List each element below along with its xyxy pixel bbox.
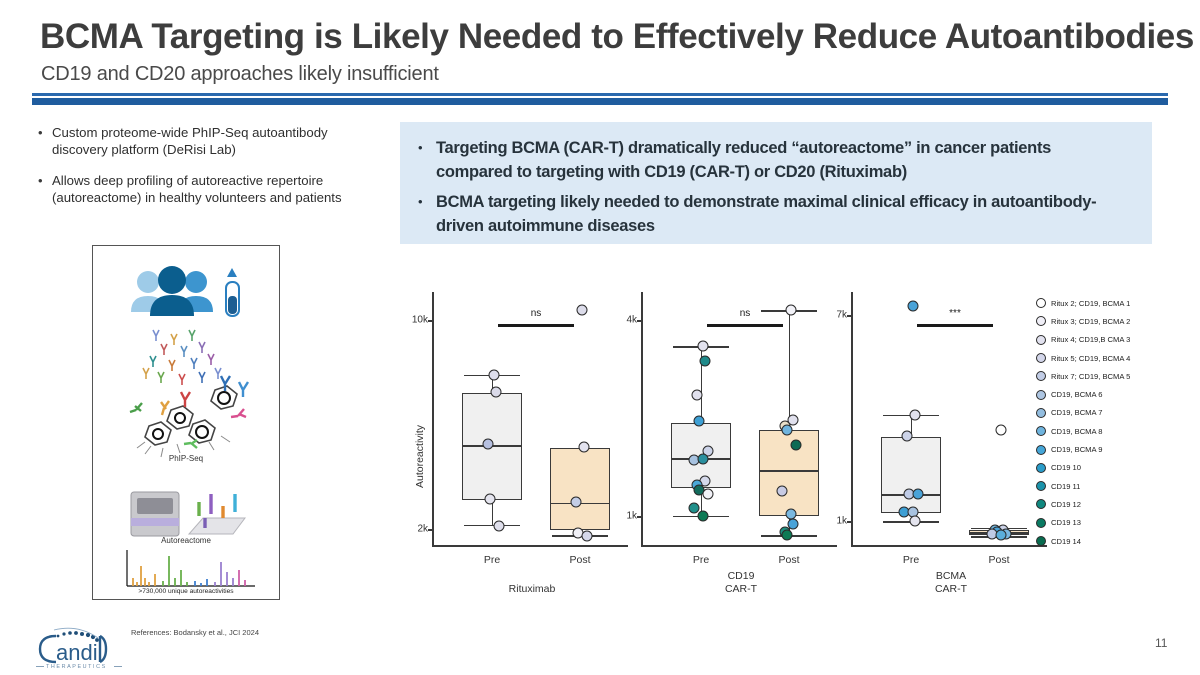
legend-item: Ritux 5; CD19, BCMA 4 (1036, 349, 1200, 367)
median-line (759, 470, 819, 471)
legend-label: Ritux 4; CD19,B CMA 3 (1051, 335, 1130, 344)
box-post (759, 430, 819, 515)
legend-label: CD19 13 (1051, 518, 1081, 527)
list-item: • Allows deep profiling of autoreactive … (38, 172, 368, 206)
data-point (782, 424, 793, 435)
data-point (571, 497, 582, 508)
data-point (694, 416, 705, 427)
callout-bullet-text: BCMA targeting likely needed to demonstr… (436, 190, 1130, 238)
data-point (581, 531, 592, 542)
legend-swatch-icon (1036, 298, 1046, 308)
whisker-upper (789, 310, 790, 430)
legend-item: Ritux 4; CD19,B CMA 3 (1036, 331, 1200, 349)
panel-group-label: Rituximab (432, 583, 632, 596)
legend-item: CD19 11 (1036, 477, 1200, 495)
boxplot-panel-bcma: 7k1k***PrePostBCMACAR-T (851, 288, 1051, 558)
legend-label: Ritux 7; CD19, BCMA 5 (1051, 372, 1130, 381)
legend-item: CD19 12 (1036, 495, 1200, 513)
data-point (909, 409, 920, 420)
x-axis-line (851, 545, 1047, 547)
references-text: References: Bodansky et al., JCI 2024 (131, 628, 259, 637)
data-point (902, 430, 913, 441)
data-point (576, 304, 587, 315)
legend-item: Ritux 2; CD19, BCMA 1 (1036, 294, 1200, 312)
panel-group-label: CD19CAR-T (641, 570, 841, 596)
legend-label: CD19, BCMA 6 (1051, 390, 1103, 399)
legend-swatch-icon (1036, 408, 1046, 418)
data-point (995, 425, 1006, 436)
y-axis-tick-mark (637, 516, 642, 518)
legend-label: CD19 10 (1051, 463, 1081, 472)
legend-label: CD19 14 (1051, 537, 1081, 546)
y-axis-tick-label: 2k (417, 523, 428, 534)
y-axis-tick-mark (637, 320, 642, 322)
panel-group-label: BCMACAR-T (851, 570, 1051, 596)
box-pre (881, 437, 941, 513)
figure-caption-phip-seq: PhIP-Seq (93, 454, 279, 463)
y-axis-tick-mark (847, 315, 852, 317)
data-point (697, 341, 708, 352)
legend-label: Ritux 2; CD19, BCMA 1 (1051, 299, 1130, 308)
legend-label: CD19, BCMA 8 (1051, 427, 1103, 436)
y-axis-tick-mark (428, 320, 433, 322)
svg-text:andi: andi (56, 640, 98, 665)
data-point (490, 386, 501, 397)
candid-logo-icon: andi THERAPEUTICS (28, 622, 132, 670)
company-logo: andi THERAPEUTICS (28, 622, 132, 670)
header-rule-thin (32, 93, 1168, 96)
box-post (550, 448, 610, 530)
left-bullet-list: • Custom proteome-wide PhIP-Seq autoanti… (38, 124, 368, 220)
list-item: • BCMA targeting likely needed to demons… (418, 190, 1130, 238)
slide: BCMA Targeting is Likely Needed to Effec… (0, 0, 1200, 675)
left-bullet-text: Custom proteome-wide PhIP-Seq autoantibo… (52, 124, 368, 158)
significance-label: ns (740, 308, 751, 319)
logo-subtitle: THERAPEUTICS (46, 664, 107, 670)
y-axis-line (851, 292, 853, 547)
data-point (777, 486, 788, 497)
left-bullet-text: Allows deep profiling of autoreactive re… (52, 172, 368, 206)
data-point (782, 530, 793, 541)
legend-swatch-icon (1036, 335, 1046, 345)
data-point (790, 440, 801, 451)
legend-swatch-icon (1036, 371, 1046, 381)
x-tick-label-pre: Pre (484, 554, 500, 566)
page-subtitle: CD19 and CD20 approaches likely insuffic… (41, 63, 439, 86)
x-axis-line (432, 545, 628, 547)
figure-caption-autoreactome: Autoreactome (93, 536, 279, 545)
legend-item: Ritux 7; CD19, BCMA 5 (1036, 367, 1200, 385)
legend-swatch-icon (1036, 390, 1046, 400)
y-axis-tick-mark (428, 529, 433, 531)
significance-bar (707, 324, 783, 327)
data-point (697, 454, 708, 465)
y-axis-tick-label: 10k (412, 315, 428, 326)
x-tick-label-pre: Pre (693, 554, 709, 566)
legend-item: Ritux 3; CD19, BCMA 2 (1036, 312, 1200, 330)
y-axis-line (432, 292, 434, 547)
legend-item: CD19, BCMA 8 (1036, 422, 1200, 440)
y-axis-tick-label: 7k (836, 309, 847, 320)
y-axis-tick-label: 1k (626, 510, 637, 521)
y-axis-line (641, 292, 643, 547)
legend-label: CD19, BCMA 9 (1051, 445, 1103, 454)
legend-swatch-icon (1036, 518, 1046, 528)
legend-swatch-icon (1036, 536, 1046, 546)
bullet-icon: • (38, 124, 52, 158)
phip-seq-figure: PhIP-Seq Autoreactome >730,000 unique au… (92, 245, 280, 600)
y-axis-tick-label: 4k (626, 315, 637, 326)
significance-bar (498, 324, 574, 327)
y-axis-tick-label: 1k (836, 516, 847, 527)
x-tick-label-post: Post (988, 554, 1009, 566)
significance-label: ns (531, 308, 542, 319)
legend-label: CD19, BCMA 7 (1051, 408, 1103, 417)
data-point (483, 439, 494, 450)
significance-label: *** (949, 308, 961, 319)
y-axis-tick-mark (847, 521, 852, 523)
bullet-icon: • (38, 172, 52, 206)
data-point (692, 389, 703, 400)
legend-swatch-icon (1036, 353, 1046, 363)
figure-footer-text: >730,000 unique autoreactivities (93, 588, 279, 595)
callout-bullet-text: Targeting BCMA (CAR-T) dramatically redu… (436, 136, 1130, 184)
data-point (697, 510, 708, 521)
data-point (485, 493, 496, 504)
data-point (995, 530, 1006, 541)
legend-label: CD19 12 (1051, 500, 1081, 509)
y-axis-label: Autoreactivity (414, 425, 426, 488)
x-axis-line (641, 545, 837, 547)
legend-item: CD19 14 (1036, 532, 1200, 550)
data-point (907, 301, 918, 312)
x-tick-label-post: Post (778, 554, 799, 566)
legend-label: Ritux 3; CD19, BCMA 2 (1051, 317, 1130, 326)
data-point (912, 489, 923, 500)
legend-item: CD19, BCMA 9 (1036, 440, 1200, 458)
legend-swatch-icon (1036, 426, 1046, 436)
legend-item: CD19, BCMA 6 (1036, 385, 1200, 403)
phip-seq-illustration (93, 246, 278, 598)
list-item: • Targeting BCMA (CAR-T) dramatically re… (418, 136, 1130, 184)
legend-swatch-icon (1036, 481, 1046, 491)
data-point (699, 355, 710, 366)
data-point (493, 520, 504, 531)
page-title: BCMA Targeting is Likely Needed to Effec… (40, 17, 1194, 57)
whisker-cap-lower (464, 525, 519, 526)
boxplot-panel-rituximab: 10k2knsPrePostRituximab (432, 288, 632, 558)
legend-item: CD19 10 (1036, 459, 1200, 477)
legend-swatch-icon (1036, 463, 1046, 473)
list-item: • Custom proteome-wide PhIP-Seq autoanti… (38, 124, 368, 158)
chart-legend: Ritux 2; CD19, BCMA 1Ritux 3; CD19, BCMA… (1036, 294, 1200, 550)
legend-swatch-icon (1036, 316, 1046, 326)
bullet-icon: • (418, 136, 436, 184)
data-point (578, 441, 589, 452)
significance-bar (917, 324, 993, 327)
legend-item: CD19, BCMA 7 (1036, 404, 1200, 422)
legend-label: Ritux 5; CD19, BCMA 4 (1051, 354, 1130, 363)
boxplot-panel-cd19: 4k1knsPrePostCD19CAR-T (641, 288, 841, 558)
data-point (785, 305, 796, 316)
legend-swatch-icon (1036, 499, 1046, 509)
x-tick-label-post: Post (569, 554, 590, 566)
data-point (488, 369, 499, 380)
page-number: 11 (1155, 636, 1167, 650)
header-rule-thick (32, 98, 1168, 105)
bullet-icon: • (418, 190, 436, 238)
key-takeaway-callout: • Targeting BCMA (CAR-T) dramatically re… (400, 122, 1152, 244)
x-tick-label-pre: Pre (903, 554, 919, 566)
legend-item: CD19 13 (1036, 514, 1200, 532)
legend-swatch-icon (1036, 445, 1046, 455)
data-point (909, 516, 920, 527)
data-point (702, 488, 713, 499)
legend-label: CD19 11 (1051, 482, 1080, 491)
